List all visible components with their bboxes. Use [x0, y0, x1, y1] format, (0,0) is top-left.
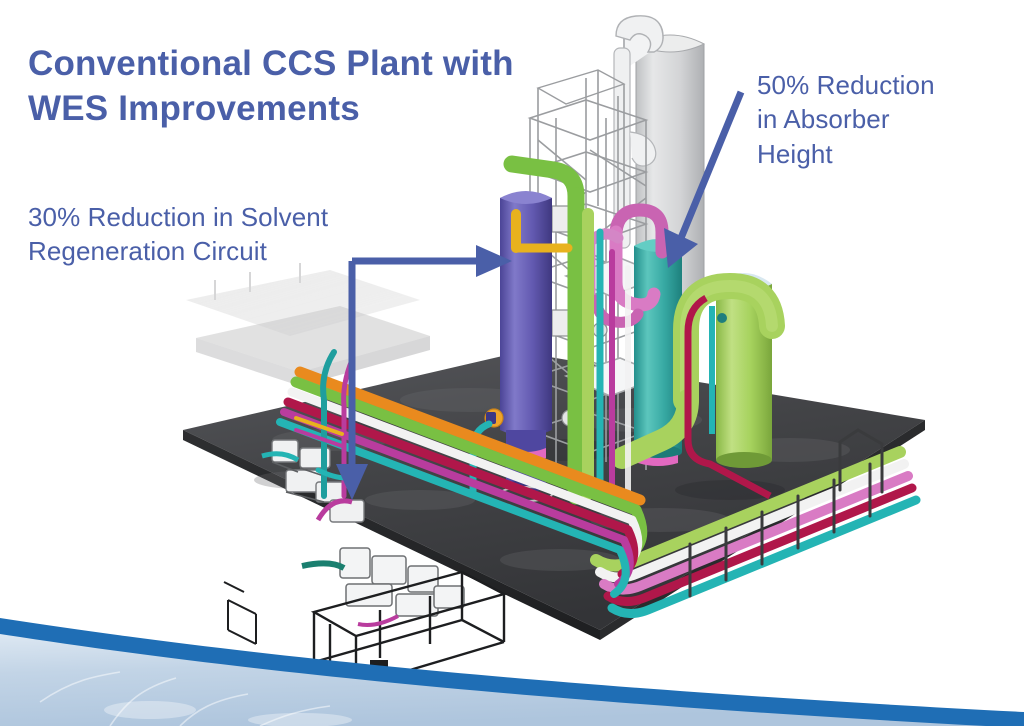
callout-absorber-height: 50% Reduction in Absorber Height [757, 68, 1007, 171]
callout-solvent-line-1: 30% Reduction in Solvent [28, 200, 448, 234]
title-line-1: Conventional CCS Plant with [28, 42, 568, 87]
callout-absorber-line-2: in Absorber [757, 102, 1007, 136]
ghosted-platform [186, 263, 430, 386]
title-line-2: WES Improvements [28, 87, 568, 132]
callout-solvent-line-2: Regeneration Circuit [28, 234, 448, 268]
callout-solvent-regeneration: 30% Reduction in Solvent Regeneration Ci… [28, 200, 448, 269]
slide-canvas: Conventional CCS Plant with WES Improvem… [0, 0, 1024, 726]
bottom-swoosh [0, 606, 1024, 726]
callout-absorber-line-1: 50% Reduction [757, 68, 1007, 102]
callout-absorber-line-3: Height [757, 137, 1007, 171]
page-title: Conventional CCS Plant with WES Improvem… [28, 42, 568, 132]
